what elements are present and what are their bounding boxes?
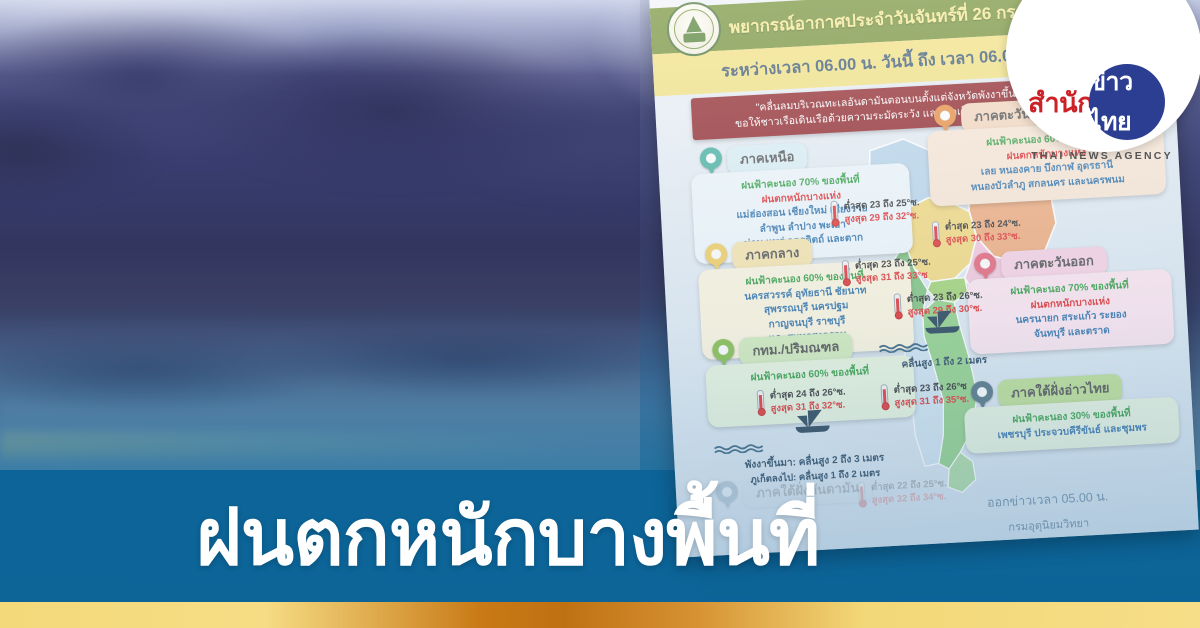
wave-lines-icon [878,340,940,353]
headline-text: ฝนตกหนักบางพื้นที่ [196,498,819,576]
sailboat-icon [922,310,963,338]
andaman-temp-max: สูงสุด 32 ถึง 34°ซ. [871,490,947,507]
sailboat-icon [792,409,833,437]
map-pin-icon [699,147,722,176]
map-pin-icon [705,243,728,272]
thermometer-icon [840,260,852,287]
wave-lines-icon [713,441,775,454]
thermometer-icon [828,201,840,228]
central-temperature: ต่ำสุด 23 ถึง 25°ซ. สูงสุด 31 ถึง 33°ซ [840,256,932,287]
agency-name: กรมอุตุนิยมวิทยา [1008,513,1090,535]
bottom-gold-bar [0,602,1200,628]
gulf-wave-info: คลื่นสูง 1 ถึง 2 เมตร [877,308,1010,374]
logo-word-samnak: สำนัก [1028,81,1093,124]
logo-word-khao: ข่าวไทย [1089,62,1165,142]
map-pin-icon [933,104,956,133]
map-pin-icon [970,380,993,409]
andaman-wave-info: พังงาขึ้นมา: คลื่นสูง 2 ถึง 3 เมตร ภูเก็… [712,405,916,490]
andaman-temperature: ต่ำสุด 22 ถึง 25°ซ. สูงสุด 32 ถึง 34°ซ. [856,477,948,508]
northeast-temperature: ต่ำสุด 23 ถึง 24°ซ. สูงสุด 30 ถึง 33°ซ. [930,217,1022,248]
north-temperature: ต่ำสุด 23 ถึง 25°ซ. สูงสุด 29 ถึง 32°ซ. [828,196,920,227]
logo-english-caption: THAI NEWS AGENCY [1004,150,1200,162]
map-pin-icon [712,338,735,367]
thermometer-icon [930,221,942,248]
map-pin-icon [973,252,996,281]
logo-blue-circle: ข่าวไทย [1089,64,1165,140]
thermometer-icon [856,482,868,509]
